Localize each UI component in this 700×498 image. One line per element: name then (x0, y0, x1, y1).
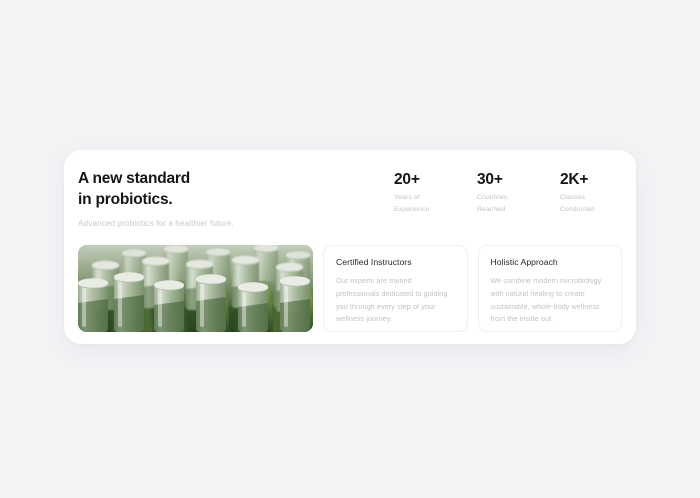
stats-row: 20+ Years of Experience 30+ Countries Re… (394, 150, 636, 215)
stat-caption-line-1: Classes (560, 194, 585, 201)
stat-caption: Years of Experience (394, 192, 442, 215)
stat-item: 30+ Countries Reached (477, 171, 525, 215)
page-root: A new standard in probiotics. Advanced p… (0, 0, 700, 498)
stat-value: 30+ (477, 171, 525, 188)
stat-value: 2K+ (560, 171, 608, 188)
test-tubes-photo (78, 245, 313, 332)
stat-caption-line-2: Conducted (560, 206, 594, 213)
feature-body: We combine modern microbiology with natu… (491, 275, 610, 326)
feature-title: Holistic Approach (491, 257, 610, 267)
test-tubes-illustration (78, 245, 313, 332)
headline-line-1: A new standard (78, 170, 190, 187)
feature-card-certified-instructors: Certified Instructors Our experts are tr… (323, 245, 468, 332)
page-subtitle: Advanced probiotics for a healthier futu… (78, 219, 234, 228)
hero-card: A new standard in probiotics. Advanced p… (64, 150, 636, 344)
feature-body: Our experts are trained professionals de… (336, 275, 455, 326)
stat-caption: Countries Reached (477, 192, 525, 215)
stat-caption: Classes Conducted (560, 192, 608, 215)
feature-card-holistic-approach: Holistic Approach We combine modern micr… (478, 245, 623, 332)
headline-block: A new standard in probiotics. Advanced p… (64, 150, 234, 228)
stat-caption-line-1: Years of (394, 194, 420, 201)
hero-top-row: A new standard in probiotics. Advanced p… (64, 150, 636, 238)
stat-caption-line-1: Countries (477, 194, 507, 201)
stat-item: 20+ Years of Experience (394, 171, 442, 215)
feature-title: Certified Instructors (336, 257, 455, 267)
page-title: A new standard in probiotics. (78, 169, 234, 210)
hero-bottom-row: Certified Instructors Our experts are tr… (78, 245, 622, 332)
stat-item: 2K+ Classes Conducted (560, 171, 608, 215)
stat-value: 20+ (394, 171, 442, 188)
stat-caption-line-2: Reached (477, 206, 505, 213)
headline-line-2: in probiotics. (78, 191, 173, 208)
stat-caption-line-2: Experience (394, 206, 430, 213)
